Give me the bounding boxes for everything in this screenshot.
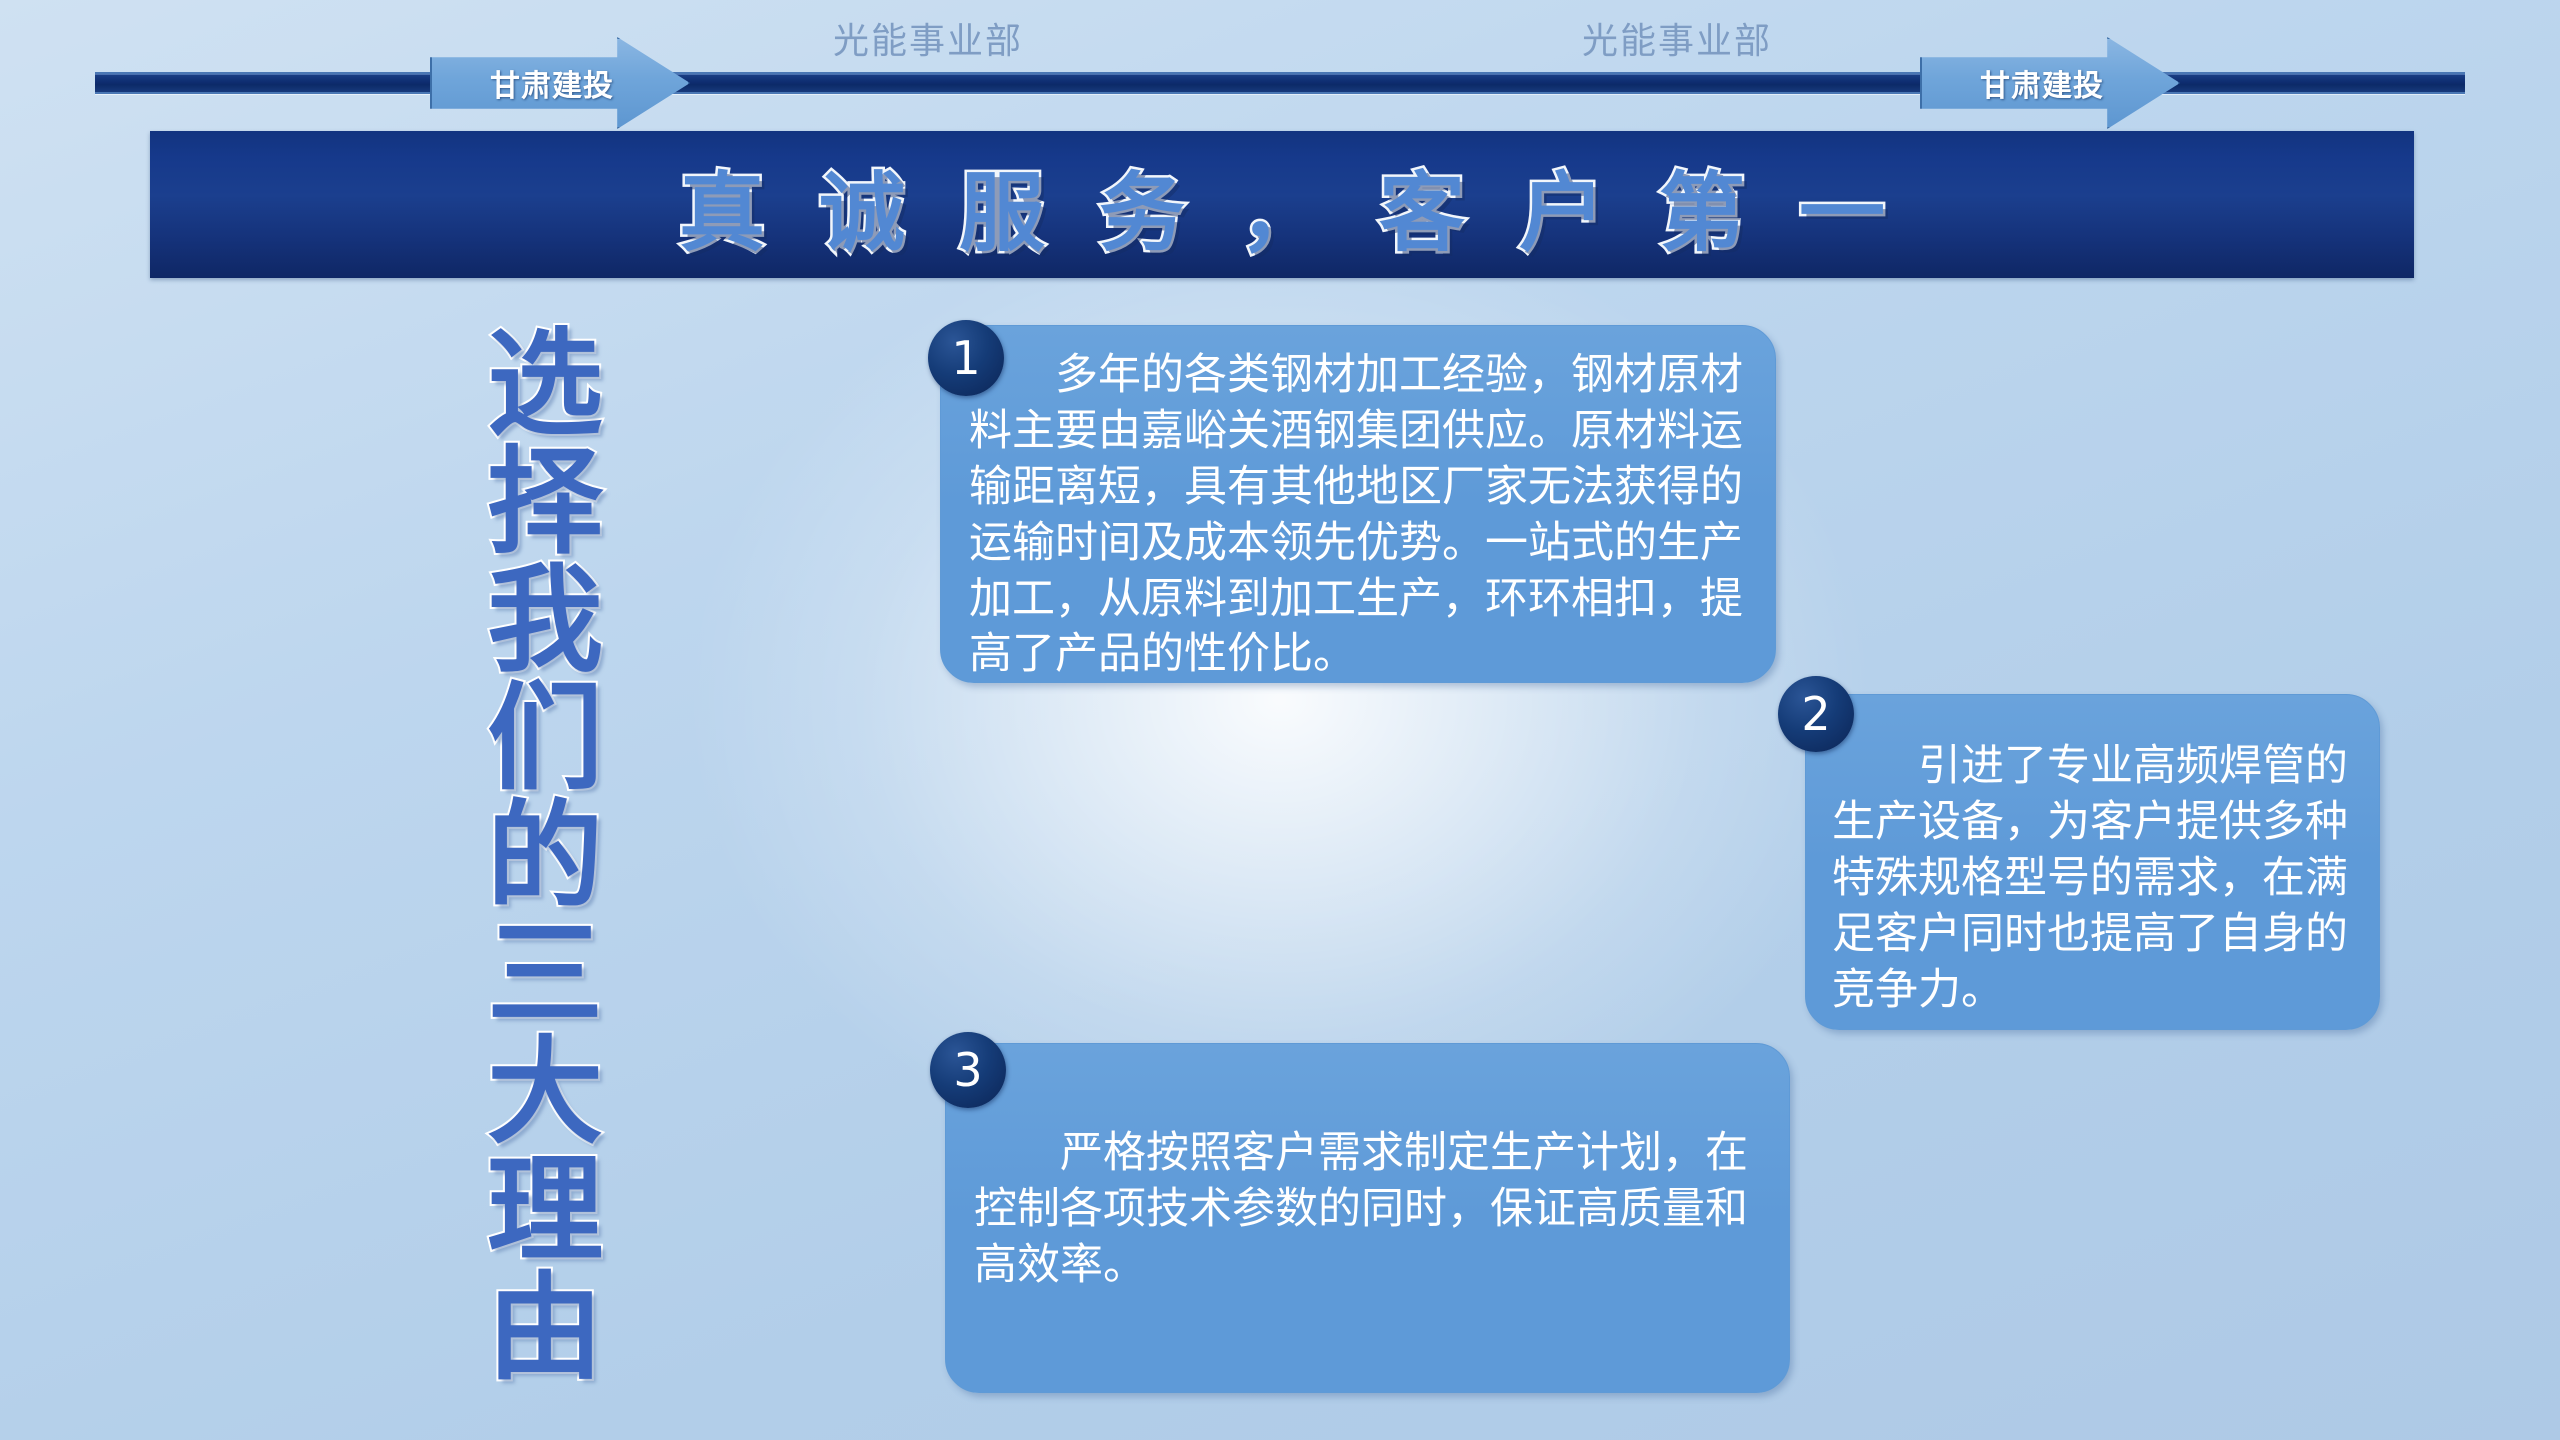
reason-card-3[interactable]: 严格按照客户需求制定生产计划，在控制各项技术参数的同时，保证高质量和高效率。	[945, 1043, 1790, 1393]
reason-card-2-number-badge: 2	[1778, 676, 1854, 752]
arrow-badge-left[interactable]: 甘肃建投	[430, 37, 690, 129]
reason-card-3-body: 严格按照客户需求制定生产计划，在控制各项技术参数的同时，保证高质量和高效率。	[974, 1126, 1763, 1294]
reason-card-1-body: 多年的各类钢材加工经验，钢材原材料主要由嘉峪关酒钢集团供应。原材料运输距离短，具…	[969, 348, 1749, 683]
reason-card-2[interactable]: 引进了专业高频焊管的生产设备，为客户提供多种特殊规格型号的需求，在满足客户同时也…	[1805, 694, 2380, 1030]
arrow-badge-right[interactable]: 甘肃建投	[1920, 37, 2180, 129]
watermark-label-left: 光能事业部	[833, 12, 1023, 64]
vertical-headline: 选择我们的三大理由	[412, 322, 592, 1384]
reason-card-1-number: 1	[951, 331, 980, 385]
arrow-badge-left-label: 甘肃建投	[490, 61, 614, 105]
reason-card-3-number: 3	[953, 1043, 982, 1097]
title-banner: 真诚服务，客户第一	[150, 131, 2414, 278]
reason-card-3-number-badge: 3	[930, 1032, 1006, 1108]
watermark-label-right: 光能事业部	[1582, 12, 1772, 64]
arrow-badge-right-label: 甘肃建投	[1980, 61, 2104, 105]
reason-card-2-number: 2	[1801, 687, 1830, 741]
slide-canvas: 光能事业部 光能事业部 甘肃建投 甘肃建投 真诚服务，客户第一 选择我们的三大理…	[0, 0, 2560, 1440]
page-title: 真诚服务，客户第一	[150, 142, 2414, 267]
reason-card-2-body: 引进了专业高频焊管的生产设备，为客户提供多种特殊规格型号的需求，在满足客户同时也…	[1832, 739, 2357, 1018]
reason-card-1-number-badge: 1	[928, 320, 1004, 396]
reason-card-1[interactable]: 多年的各类钢材加工经验，钢材原材料主要由嘉峪关酒钢集团供应。原材料运输距离短，具…	[940, 325, 1776, 683]
